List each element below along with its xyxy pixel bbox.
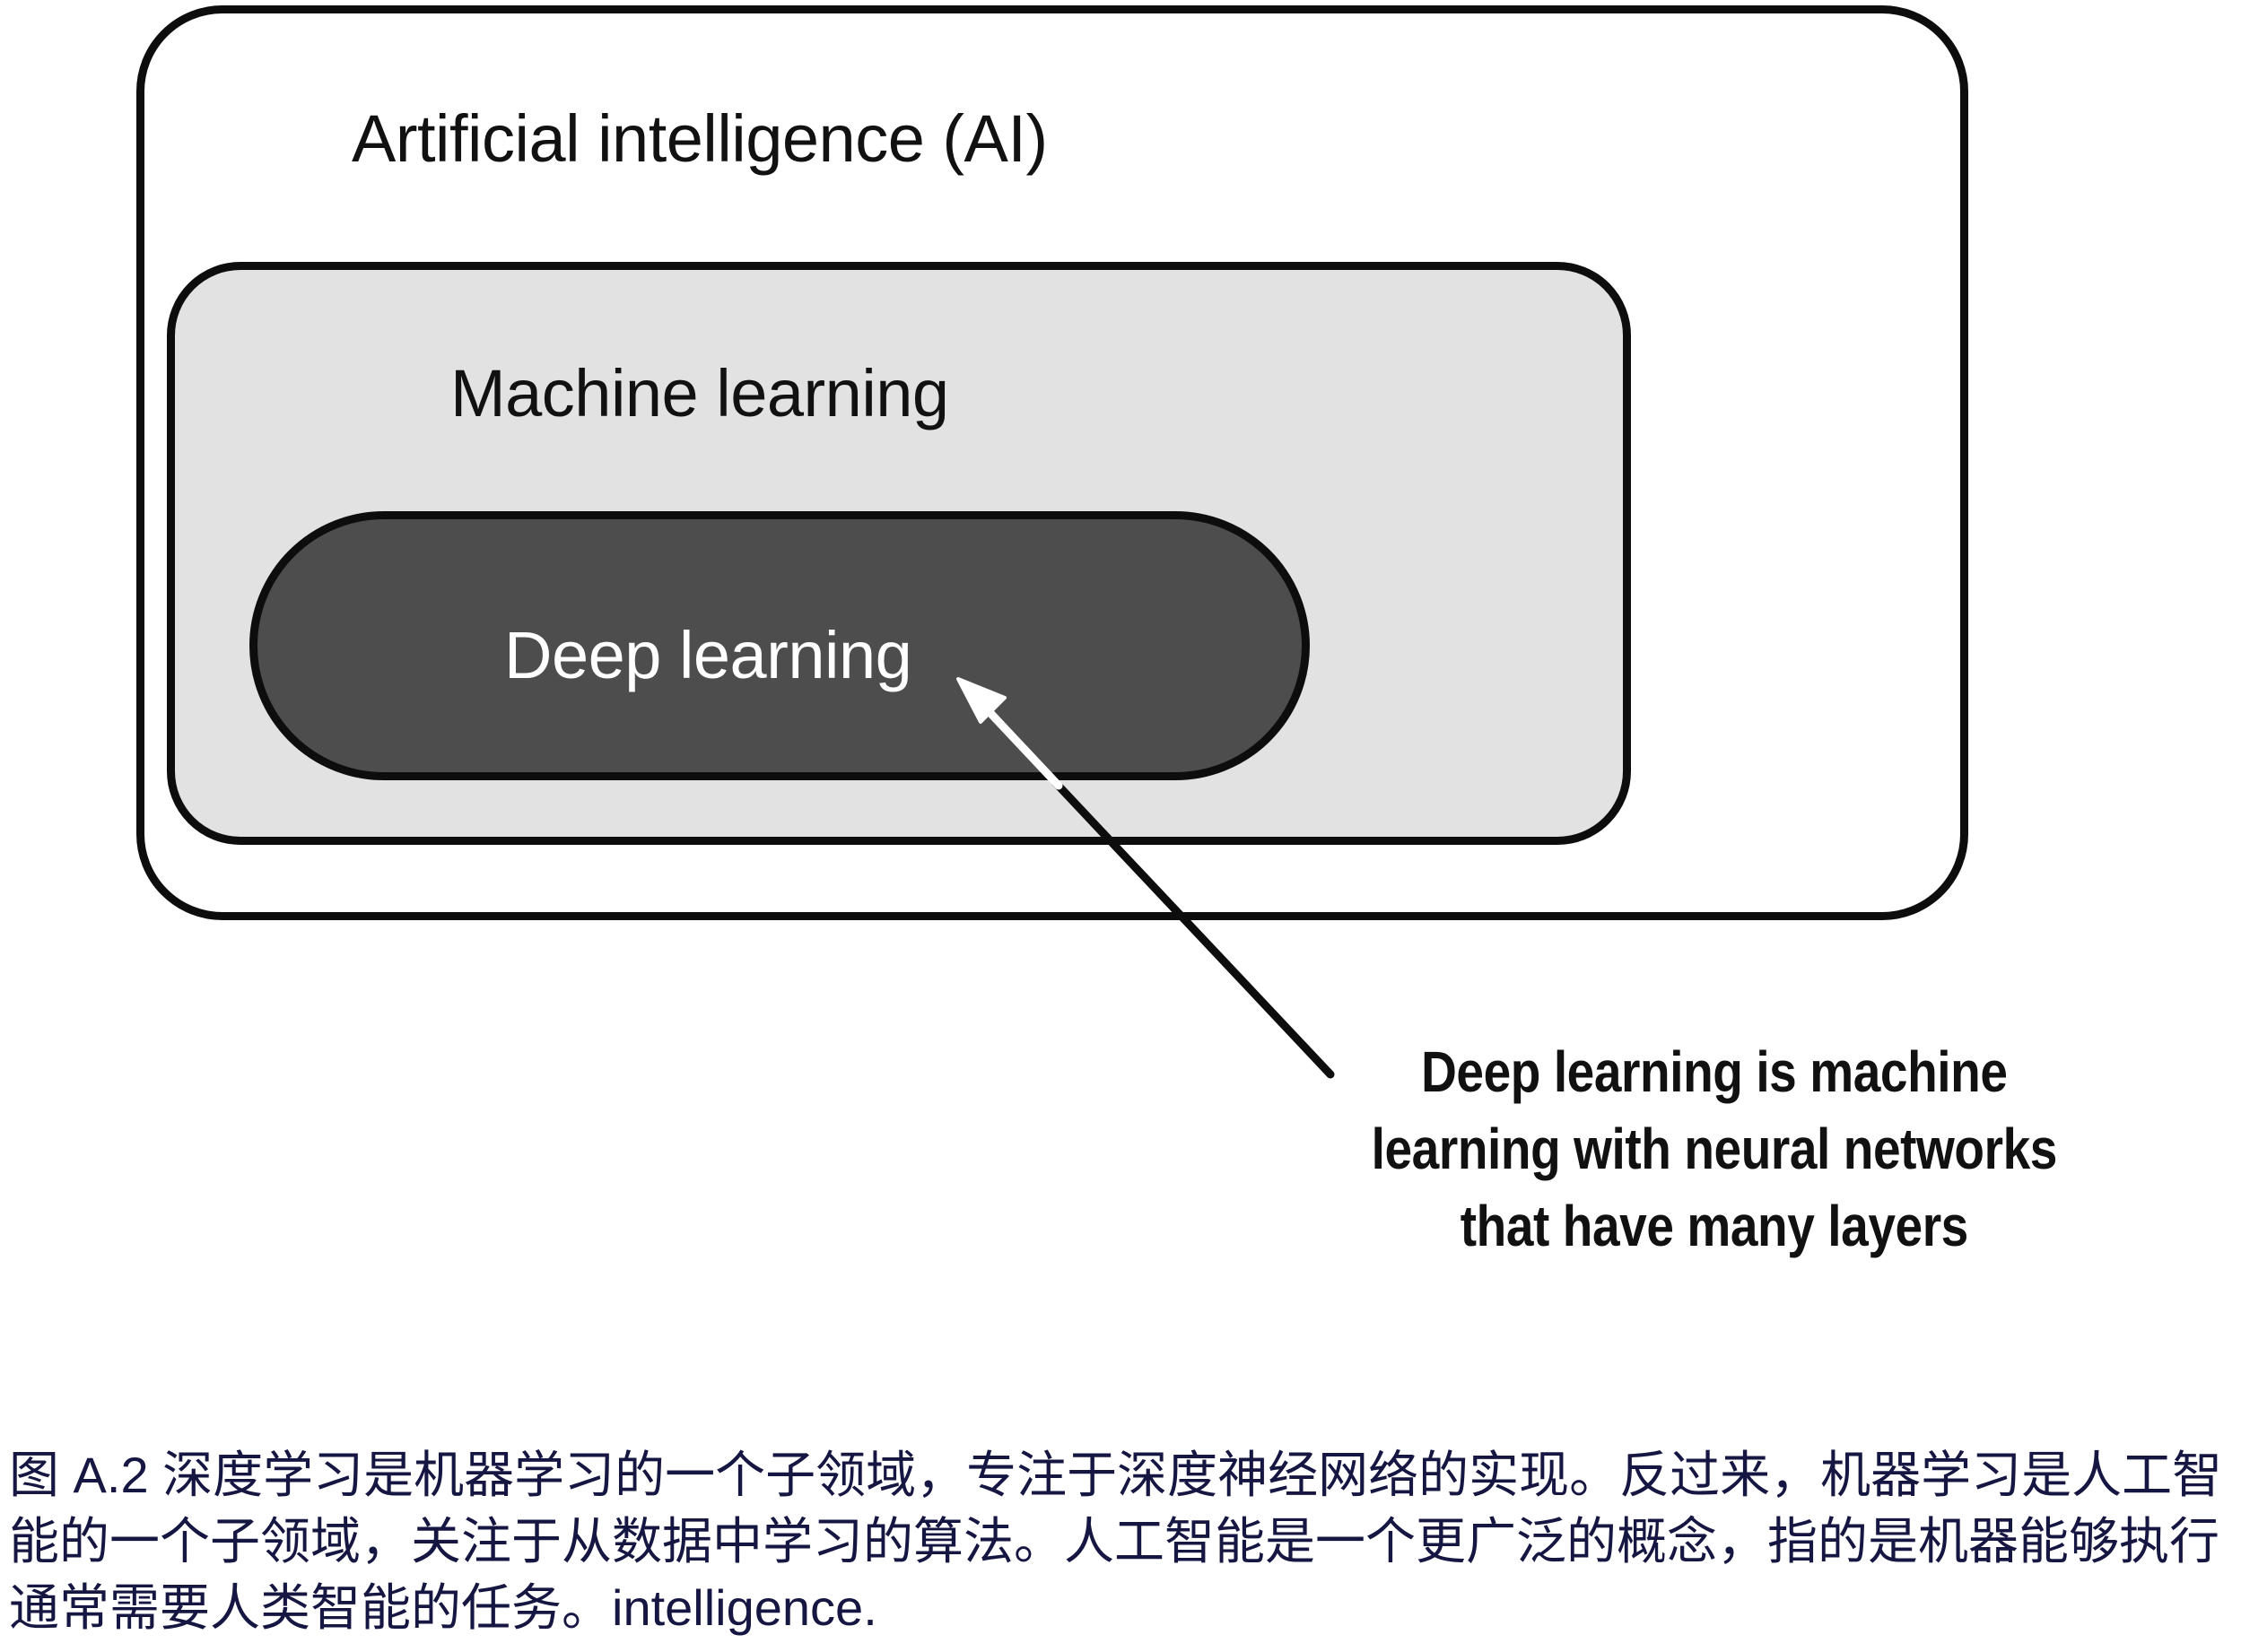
callout-annotation: Deep learning is machine learning with n… xyxy=(1344,1033,2085,1265)
ai-box-label: Artificial intelligence (AI) xyxy=(352,100,1048,177)
machine-learning-box-label: Machine learning xyxy=(450,355,949,431)
callout-line-3: that have many layers xyxy=(1344,1187,2085,1265)
caption-line-2: 能的一个子领域，关注于从数据中学习的算法。人工智能是一个更广泛的概念，指的是机器… xyxy=(9,1509,2234,1575)
caption-line-3: 通常需要人类智能的任务。intelligence. xyxy=(9,1575,2234,1641)
callout-line-2: learning with neural networks xyxy=(1344,1110,2085,1187)
callout-line-1: Deep learning is machine xyxy=(1344,1033,2085,1110)
figure-page: Artificial intelligence (AI) Machine lea… xyxy=(0,0,2241,1652)
caption-line-1: 图 A.2 深度学习是机器学习的一个子领域，专注于深度神经网络的实现。反过来，机… xyxy=(9,1442,2234,1509)
venn-diagram: Artificial intelligence (AI) Machine lea… xyxy=(0,0,2241,1345)
figure-caption: 图 A.2 深度学习是机器学习的一个子领域，专注于深度神经网络的实现。反过来，机… xyxy=(9,1442,2234,1641)
deep-learning-box-label: Deep learning xyxy=(504,617,911,693)
